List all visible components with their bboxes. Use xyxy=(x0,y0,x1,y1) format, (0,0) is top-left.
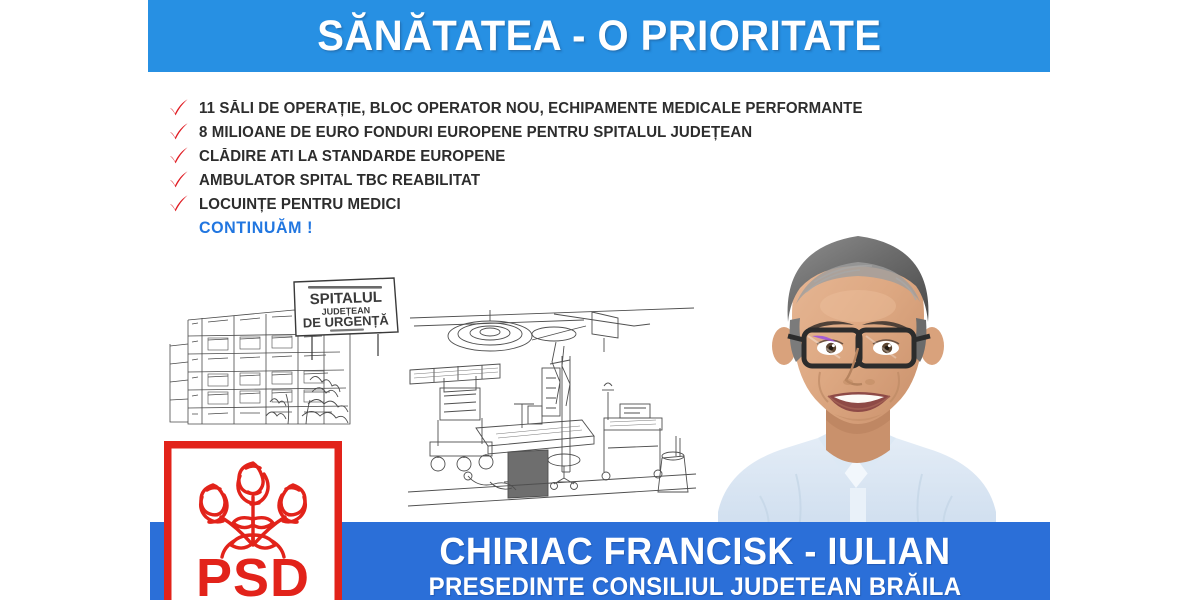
list-item: 8 MILIOANE DE EURO FONDURI EUROPENE PENT… xyxy=(168,120,958,144)
hospital-building-sketch: SPITALUL JUDEȚEAN DE URGENȚĂ xyxy=(162,276,400,436)
svg-text:PSD: PSD xyxy=(196,548,310,600)
list-item-label: LOCUINȚE PENTRU MEDICI xyxy=(199,194,401,215)
candidate-portrait xyxy=(700,196,1010,546)
list-item-label: 11 SĂLI DE OPERAȚIE, BLOC OPERATOR NOU, … xyxy=(199,98,863,119)
slogan-label: CONTINUĂM ! xyxy=(199,219,313,238)
check-icon xyxy=(168,145,190,167)
candidate-role: PRESEDINTE CONSILIUL JUDETEAN BRĂILA xyxy=(364,573,1026,600)
list-item-label: 8 MILIOANE DE EURO FONDURI EUROPENE PENT… xyxy=(199,122,752,143)
page-title: SĂNĂTATEA - O PRIORITATE xyxy=(317,12,881,61)
check-icon xyxy=(168,193,190,215)
check-icon xyxy=(168,121,190,143)
check-icon xyxy=(168,97,190,119)
candidate-name: CHIRIAC FRANCISK - IULIAN xyxy=(367,531,1023,573)
list-item: AMBULATOR SPITAL TBC REABILITAT xyxy=(168,168,958,192)
check-icon xyxy=(168,169,190,191)
svg-text:DE URGENȚĂ: DE URGENȚĂ xyxy=(303,312,390,330)
list-item: 11 SĂLI DE OPERAȚIE, BLOC OPERATOR NOU, … xyxy=(168,96,958,120)
header-banner: SĂNĂTATEA - O PRIORITATE xyxy=(148,0,1050,72)
psd-logo: PSD xyxy=(164,441,342,600)
operating-room-sketch xyxy=(404,296,700,518)
list-item-label: AMBULATOR SPITAL TBC REABILITAT xyxy=(199,170,480,191)
footer-text-block: CHIRIAC FRANCISK - IULIAN PRESEDINTE CON… xyxy=(350,531,1040,600)
list-item-label: CLĂDIRE ATI LA STANDARDE EUROPENE xyxy=(199,146,505,167)
list-item: CLĂDIRE ATI LA STANDARDE EUROPENE xyxy=(168,144,958,168)
campaign-poster: SĂNĂTATEA - O PRIORITATE 11 SĂLI DE OPER… xyxy=(0,0,1200,600)
